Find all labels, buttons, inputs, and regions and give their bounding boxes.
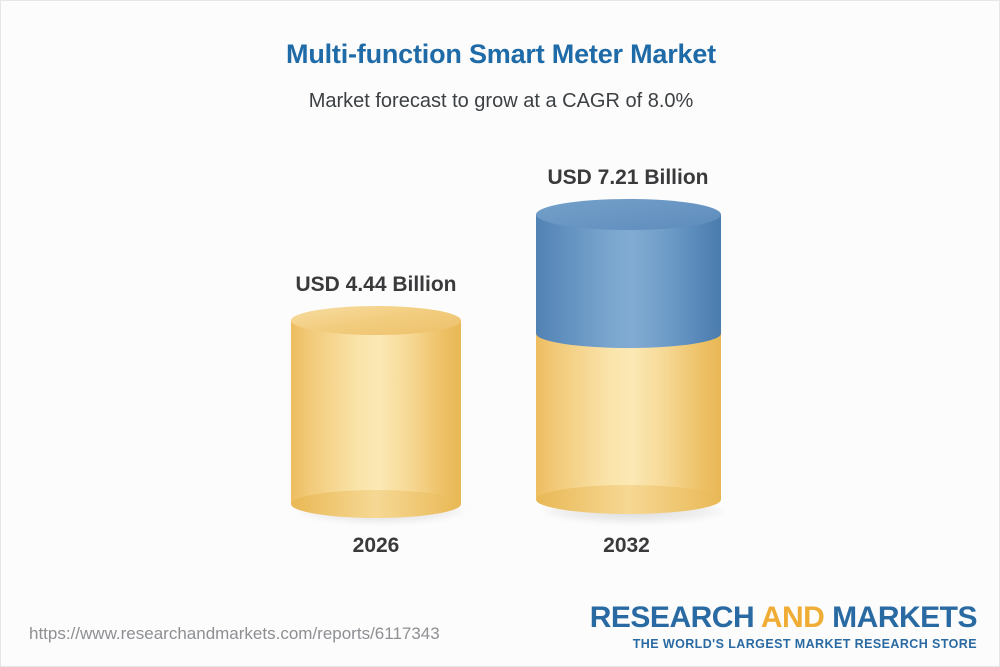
cylinder-2026-gold-body — [291, 320, 461, 504]
cylinder-2026-bottom-cap — [291, 490, 461, 518]
brand-research-text: RESEARCH — [590, 601, 761, 634]
brand-wordmark: RESEARCH AND MARKETS — [590, 603, 977, 633]
brand-markets-text: MARKETS — [824, 601, 977, 634]
cylinder-2026 — [291, 306, 461, 518]
category-label-2032: 2032 — [534, 534, 719, 558]
source-url[interactable]: https://www.researchandmarkets.com/repor… — [29, 624, 440, 644]
cylinder-2032-blue-body — [536, 214, 721, 333]
brand-and-text: AND — [761, 601, 825, 634]
brand-tagline: THE WORLD'S LARGEST MARKET RESEARCH STOR… — [590, 638, 977, 651]
cylinder-2032 — [536, 199, 721, 518]
plot-area: USD 4.44 Billion 2026 USD 7.21 Billion — [1, 1, 1000, 601]
cylinder-2026-top-cap — [291, 306, 461, 335]
chart-canvas: Multi-function Smart Meter Market Market… — [0, 0, 1000, 667]
cylinder-2032-top-cap — [536, 199, 721, 230]
value-label-2032: USD 7.21 Billion — [533, 166, 723, 190]
cylinder-2032-segment-seam — [536, 319, 721, 348]
cylinder-2032-gold-body — [536, 333, 721, 499]
value-label-2026: USD 4.44 Billion — [281, 273, 471, 297]
cylinder-2032-bottom-cap — [536, 485, 721, 514]
brand-logo: RESEARCH AND MARKETS THE WORLD'S LARGEST… — [590, 603, 977, 651]
category-label-2026: 2026 — [286, 534, 466, 558]
